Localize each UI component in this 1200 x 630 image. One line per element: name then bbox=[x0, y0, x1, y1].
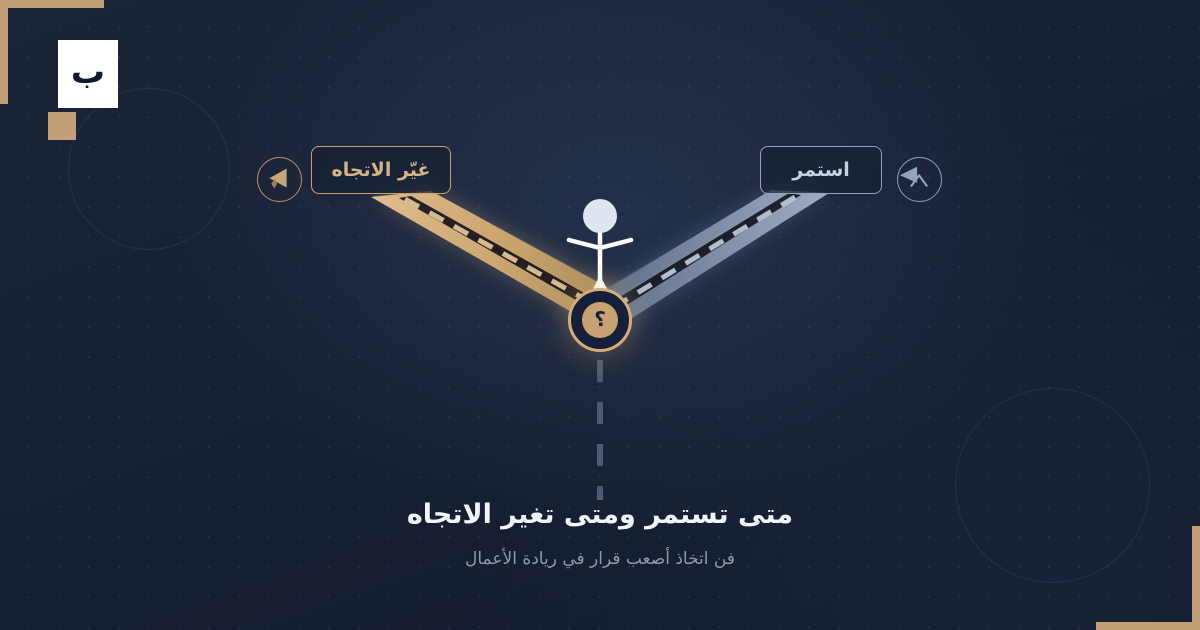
poster-canvas: ب bbox=[0, 0, 1200, 630]
figure-arm-left bbox=[569, 240, 600, 248]
turn-back-arrow-icon[interactable] bbox=[257, 157, 302, 202]
label-pivot-text: غيّر الاتجاه bbox=[332, 159, 431, 181]
question-mark-glyph: ؟ bbox=[594, 309, 606, 329]
continue-arrow-icon[interactable] bbox=[897, 157, 942, 202]
label-persevere[interactable]: استمر bbox=[760, 146, 882, 194]
decision-node[interactable]: ؟ bbox=[568, 288, 632, 352]
page-subtitle: فن اتخاذ أصعب قرار في ريادة الأعمال bbox=[0, 548, 1200, 572]
page-title: متى تستمر ومتى تغير الاتجاه bbox=[0, 498, 1200, 532]
label-persevere-text: استمر bbox=[792, 159, 850, 181]
decision-node-core: ؟ bbox=[582, 302, 618, 338]
label-pivot[interactable]: غيّر الاتجاه bbox=[311, 146, 451, 194]
figure-arm-right bbox=[600, 240, 631, 248]
figure-head bbox=[583, 199, 617, 233]
headline-block: متى تستمر ومتى تغير الاتجاه فن اتخاذ أصع… bbox=[0, 498, 1200, 572]
